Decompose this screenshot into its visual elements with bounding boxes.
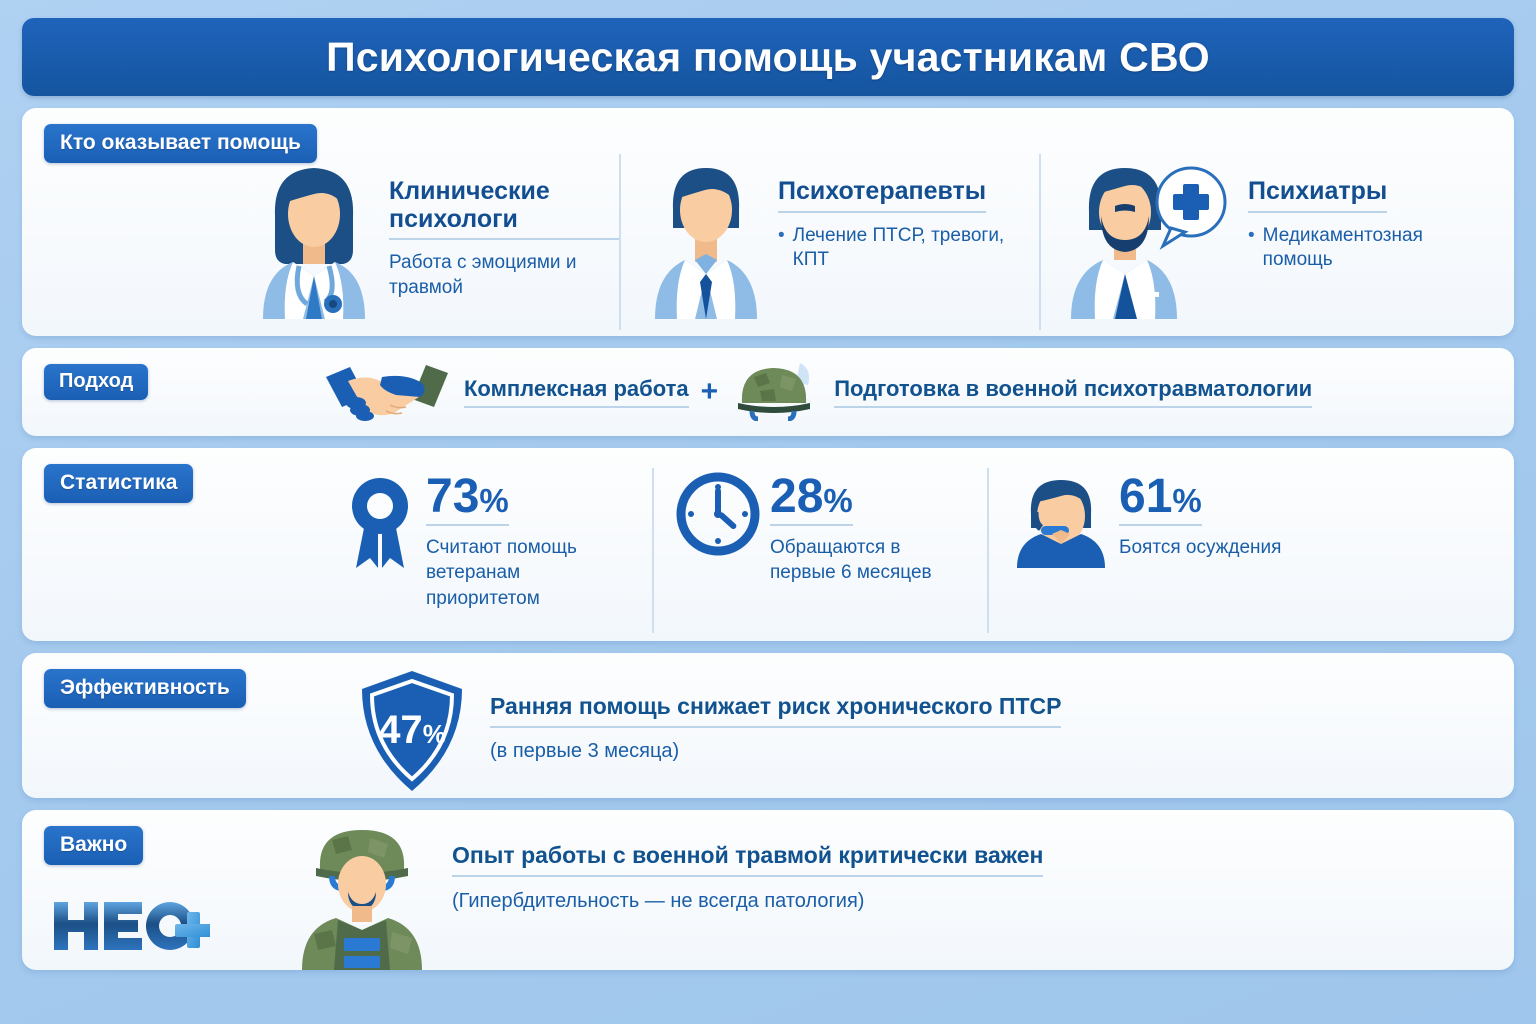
stat-value-1: 73% [426, 474, 509, 526]
person-headset-icon [1011, 472, 1109, 573]
bearded-psychiatrist-icon [1063, 154, 1238, 324]
stat-item-priority: 73% Считают помощь ветеранам приоритетом [322, 468, 652, 633]
military-helmet-icon [730, 359, 822, 426]
male-therapist-icon [643, 154, 768, 324]
stat-item-fear-judgement: 61% Боятся осуждения [987, 468, 1347, 633]
stat-number-2: 28 [770, 470, 823, 523]
clock-icon [676, 472, 760, 561]
who-desc-3-text: Медикаментозная помощь [1263, 224, 1479, 273]
who-desc-2: • Лечение ПТСР, тревоги, КПТ [778, 224, 1039, 273]
shield-icon: 47% [352, 667, 472, 798]
section-important: Важно [22, 810, 1514, 970]
important-sub-text: (Гипербдительность — не всегда патология… [452, 890, 1043, 913]
who-text-3: Психиатры • Медикаментозная помощь [1238, 154, 1479, 273]
award-ribbon-icon [344, 472, 416, 577]
section-statistics: Статистика 73% Считают помощь ветеранам … [22, 448, 1514, 641]
who-desc-1: Работа с эмоциями и травмой [389, 251, 619, 300]
page-header: Психологическая помощь участникам СВО [22, 18, 1514, 96]
who-item-clinical-psychologists: Клинические психологи Работа с эмоциями … [227, 154, 619, 330]
section-approach: Подход [22, 348, 1514, 436]
important-text: Опыт работы с военной травмой критически… [452, 822, 1043, 913]
statistics-items: 73% Считают помощь ветеранам приоритетом [322, 468, 1498, 633]
approach-plus-sign: + [701, 375, 719, 409]
section-who-provides-help: Кто оказывает помощь [22, 108, 1514, 336]
who-text-1: Клинические психологи Работа с эмоциями … [379, 154, 619, 300]
stat-label-3: Боятся осуждения [1119, 535, 1281, 561]
effectiveness-sub-text: (в первые 3 месяца) [490, 740, 1061, 763]
stat-item-first-six-months: 28% Обращаются в первые 6 месяцев [652, 468, 987, 633]
female-psychologist-icon [249, 154, 379, 324]
stat-body-2: 28% Обращаются в первые 6 месяцев [770, 472, 971, 586]
who-text-2: Психотерапевты • Лечение ПТСР, тревоги, … [768, 154, 1039, 273]
who-item-psychiatrists: Психиатры • Медикаментозная помощь [1039, 154, 1479, 330]
page-title: Психологическая помощь участникам СВО [326, 34, 1210, 81]
who-desc-3: • Медикаментозная помощь [1248, 224, 1479, 273]
stat-value-2: 28% [770, 474, 853, 526]
stat-label-1: Считают помощь ветеранам приоритетом [426, 535, 636, 612]
neo-plus-logo [50, 896, 210, 956]
stat-value-3: 61% [1119, 474, 1202, 526]
approach-left-text: Комплексная работа [464, 376, 689, 408]
effectiveness-content: 47% Ранняя помощь снижает риск хроническ… [352, 667, 1498, 798]
infographic-page: Психологическая помощь участникам СВО Кт… [0, 0, 1536, 1024]
who-title-3: Психиатры [1248, 178, 1387, 213]
important-content: Опыт работы с военной травмой критически… [292, 822, 1498, 970]
important-main-text: Опыт работы с военной травмой критически… [452, 842, 1043, 877]
who-desc-2-text: Лечение ПТСР, тревоги, КПТ [793, 224, 1039, 273]
stat-body-3: 61% Боятся осуждения [1119, 472, 1281, 560]
bullet-dot-icon: • [778, 224, 785, 273]
who-title-2: Психотерапевты [778, 178, 986, 213]
badge-approach: Подход [44, 364, 148, 400]
approach-right-text: Подготовка в военной психотравматологии [834, 376, 1312, 408]
badge-effectiveness: Эффективность [44, 669, 246, 708]
stat-number-1: 73 [426, 470, 479, 523]
stat-number-3: 61 [1119, 470, 1172, 523]
who-columns: Клинические психологи Работа с эмоциями … [227, 154, 1496, 330]
stat-unit-2: % [823, 482, 852, 519]
badge-statistics: Статистика [44, 464, 193, 503]
effectiveness-text: Ранняя помощь снижает риск хронического … [490, 667, 1061, 763]
stat-unit-3: % [1172, 482, 1201, 519]
effectiveness-main-text: Ранняя помощь снижает риск хронического … [490, 693, 1061, 728]
bullet-dot-icon: • [1248, 224, 1255, 273]
stat-body-1: 73% Считают помощь ветеранам приоритетом [426, 472, 636, 612]
stat-unit-1: % [479, 482, 508, 519]
stat-label-2: Обращаются в первые 6 месяцев [770, 535, 971, 586]
handshake-icon [322, 357, 452, 428]
soldier-icon [292, 822, 432, 970]
who-title-1: Клинические психологи [389, 178, 619, 240]
section-effectiveness: Эффективность 47% Ранняя помощь снижает … [22, 653, 1514, 798]
badge-important: Важно [44, 826, 143, 865]
approach-content: Комплексная работа + Подготовка в военно… [322, 348, 1502, 436]
who-item-psychotherapists: Психотерапевты • Лечение ПТСР, тревоги, … [619, 154, 1039, 330]
